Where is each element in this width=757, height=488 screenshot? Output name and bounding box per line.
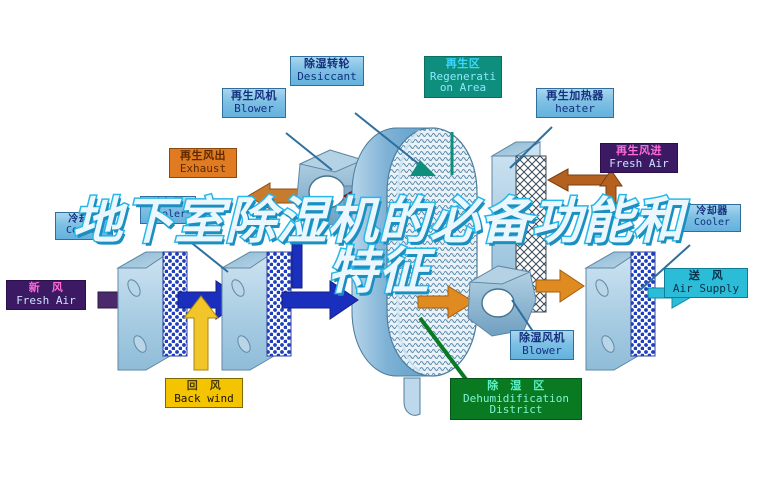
label-dehumidification-district[interactable]: 除 湿 区 Dehumidification District <box>450 378 582 420</box>
label-back-wind-cn: 回 风 <box>170 381 238 393</box>
label-regeneration-area-en2: on Area <box>429 82 497 94</box>
label-desiccant-rotor[interactable]: 除湿转轮 Desiccant <box>290 56 364 86</box>
label-regeneration-fresh-air[interactable]: 再生风进 Fresh Air <box>600 143 678 173</box>
label-back-wind-en: Back wind <box>170 393 238 405</box>
label-dehumidification-blower-cn: 除湿风机 <box>515 333 569 345</box>
label-regeneration-fresh-air-cn: 再生风进 <box>605 146 673 158</box>
label-exhaust-en: Exhaust <box>174 163 232 175</box>
label-regeneration-area[interactable]: 再生区 Regenerati on Area <box>424 56 502 98</box>
label-fresh-air-en: Fresh Air <box>11 295 81 307</box>
label-dehumidification-blower-en: Blower <box>515 345 569 357</box>
label-regeneration-area-cn: 再生区 <box>429 59 497 71</box>
label-regeneration-blower-cn: 再生风机 <box>227 91 281 103</box>
label-dehumidification-blower[interactable]: 除湿风机 Blower <box>510 330 574 360</box>
label-dehumidification-district-cn: 除 湿 区 <box>455 381 577 393</box>
page-title-line-2: 特征 <box>0 246 757 296</box>
label-regeneration-heater-cn: 再生加热器 <box>541 91 609 103</box>
label-regeneration-fresh-air-en: Fresh Air <box>605 158 673 170</box>
label-regeneration-heater-en: heater <box>541 103 609 115</box>
label-regeneration-heater[interactable]: 再生加热器 heater <box>536 88 614 118</box>
diagram-canvas: 再生风机 Blower 除湿转轮 Desiccant 再生区 Regenerat… <box>0 0 757 488</box>
label-exhaust[interactable]: 再生风出 Exhaust <box>169 148 237 178</box>
label-exhaust-cn: 再生风出 <box>174 151 232 163</box>
label-desiccant-rotor-cn: 除湿转轮 <box>295 59 359 71</box>
page-title: 地下室除湿机的必备功能和 特征 <box>0 196 757 296</box>
label-regeneration-blower[interactable]: 再生风机 Blower <box>222 88 286 118</box>
label-regeneration-blower-en: Blower <box>227 103 281 115</box>
label-desiccant-rotor-en: Desiccant <box>295 71 359 83</box>
label-back-wind[interactable]: 回 风 Back wind <box>165 378 243 408</box>
label-dehumidification-district-en2: District <box>455 404 577 416</box>
